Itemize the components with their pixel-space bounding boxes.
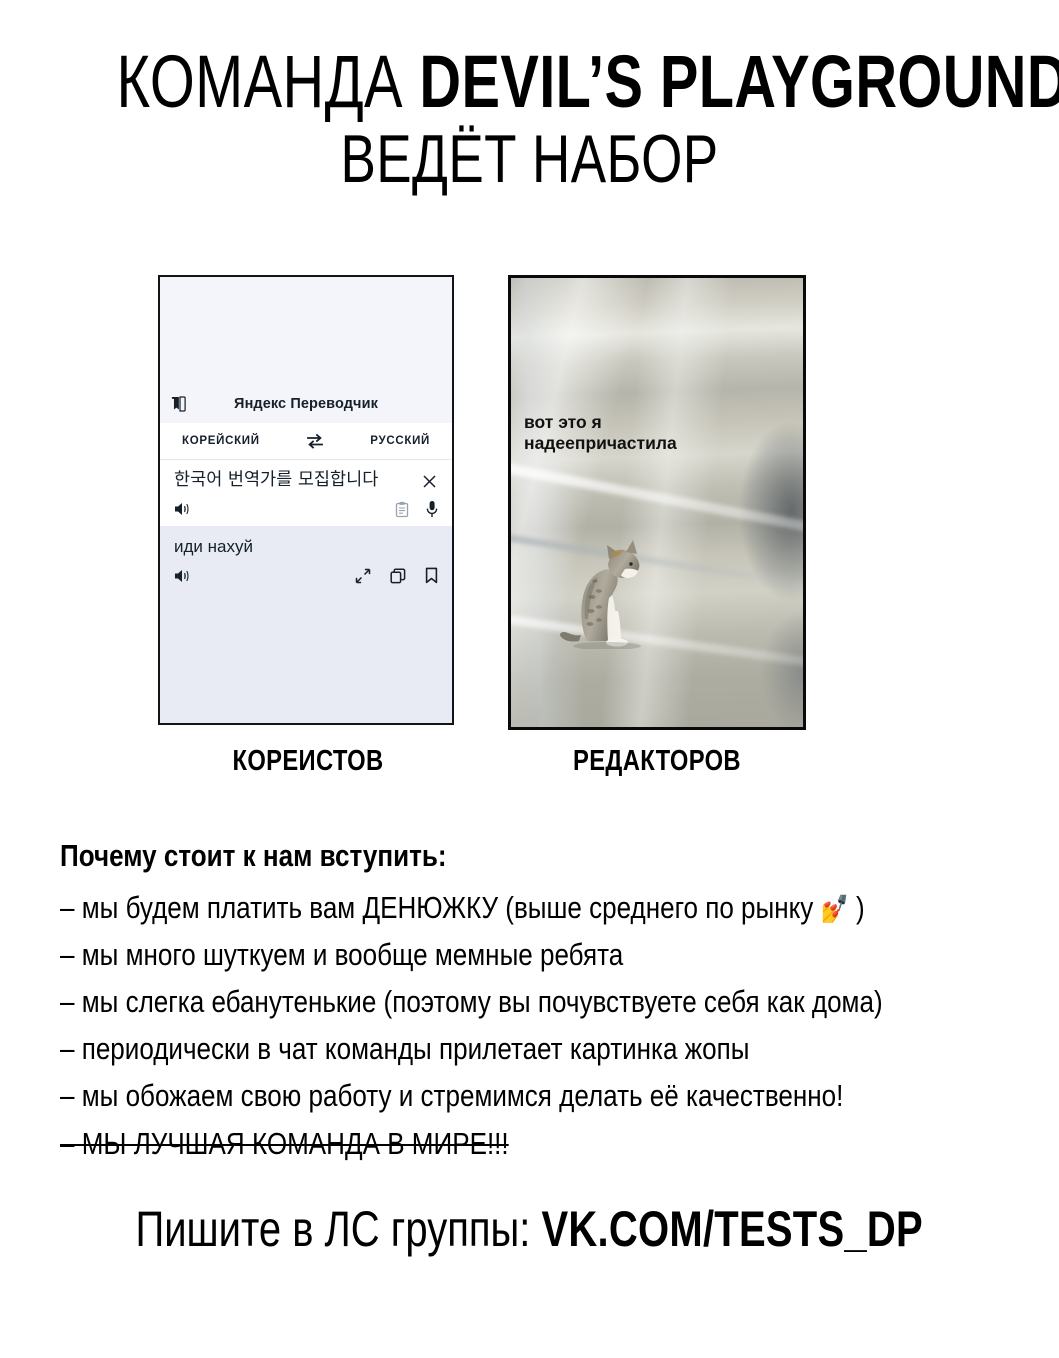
list-item: – мы слегка ебанутенькие (поэтому вы поч… <box>60 978 866 1025</box>
translator-source-row: 한국어 번역가를 모집합니다 <box>174 470 438 491</box>
footer-prefix: Пишите в ЛС группы: <box>136 1201 542 1257</box>
list-item-tail: ) <box>849 890 865 925</box>
translator-top-blank <box>160 277 452 385</box>
vk-group-link[interactable]: VK.COM/TESTS_DP <box>542 1201 923 1257</box>
meme-caption-text: вот это я надеепричастила <box>524 412 677 455</box>
source-tools-row <box>174 500 438 518</box>
bookmark-icon[interactable] <box>425 567 438 584</box>
translator-input-zone: 한국어 번역가를 모집합니다 <box>160 459 452 526</box>
list-item-struck: – МЫ ЛУЧШАЯ КОМАНДА В МИРЕ!!! <box>60 1120 866 1167</box>
title-word-komanda: КОМАНДА <box>116 40 419 123</box>
nail-polish-emoji: 💅 <box>821 894 849 925</box>
caption-redaktorov: РЕДАКТОРОВ <box>535 745 779 778</box>
speaker-icon[interactable] <box>174 568 192 584</box>
title-line-2: ВЕДЁТ НАБОР <box>116 124 942 194</box>
list-item: – мы много шуткуем и вообще мемные ребят… <box>60 931 866 978</box>
output-tools-row <box>174 567 438 584</box>
microphone-icon[interactable] <box>426 500 438 518</box>
translator-header: Яндекс Переводчик <box>160 385 452 423</box>
poster-title: КОМАНДА DEVIL’S PLAYGROUND ВЕДЁТ НАБОР <box>0 0 1059 194</box>
yandex-translator-screenshot: Яндекс Переводчик КОРЕЙСКИЙ РУССКИЙ 한국어 … <box>158 275 454 725</box>
title-line-1: КОМАНДА DEVIL’S PLAYGROUND <box>116 44 942 120</box>
translator-app-title: Яндекс Переводчик <box>160 396 452 412</box>
copy-icon[interactable] <box>390 568 406 584</box>
caption-koreistov: КОРЕИСТОВ <box>187 745 430 778</box>
source-language-selector[interactable]: КОРЕЙСКИЙ <box>182 435 260 447</box>
source-text-input[interactable]: 한국어 번역가를 모집합니다 <box>174 470 378 491</box>
list-item-text: – мы будем платить вам ДЕНЮЖКУ (выше сре… <box>60 890 821 925</box>
contact-footer: Пишите в ЛС группы: VK.COM/TESTS_DP <box>0 1200 1059 1258</box>
showcase-captions: КОРЕИСТОВ РЕДАКТОРОВ <box>0 745 1059 787</box>
speaker-icon[interactable] <box>174 501 192 517</box>
source-tools-right <box>395 500 438 518</box>
list-item: – периодически в чат команды прилетает к… <box>60 1025 866 1072</box>
translator-output-zone: иди нахуй <box>160 526 452 723</box>
showcase-row: Яндекс Переводчик КОРЕЙСКИЙ РУССКИЙ 한국어 … <box>0 275 1059 735</box>
book-icon[interactable] <box>170 395 187 413</box>
translator-language-bar: КОРЕЙСКИЙ РУССКИЙ <box>160 423 452 459</box>
reasons-block: Почему стоит к нам вступить: – мы будем … <box>60 838 1020 1167</box>
list-item: – мы будем платить вам ДЕНЮЖКУ (выше сре… <box>60 884 866 931</box>
title-team-name: DEVIL’S PLAYGROUND <box>419 40 1059 123</box>
cat-meme-screenshot: вот это я надеепричастила <box>508 275 806 730</box>
translated-text: иди нахуй <box>174 537 438 557</box>
clipboard-icon[interactable] <box>395 501 409 518</box>
close-icon[interactable] <box>421 473 438 490</box>
output-tools-right <box>355 567 438 584</box>
expand-arrows-icon[interactable] <box>355 568 371 584</box>
cat-silhouette <box>559 519 667 649</box>
swap-arrows-icon[interactable] <box>305 433 325 449</box>
reasons-heading: Почему стоит к нам вступить: <box>60 838 866 874</box>
target-language-selector[interactable]: РУССКИЙ <box>370 435 430 447</box>
list-item: – мы обожаем свою работу и стремимся дел… <box>60 1072 866 1119</box>
